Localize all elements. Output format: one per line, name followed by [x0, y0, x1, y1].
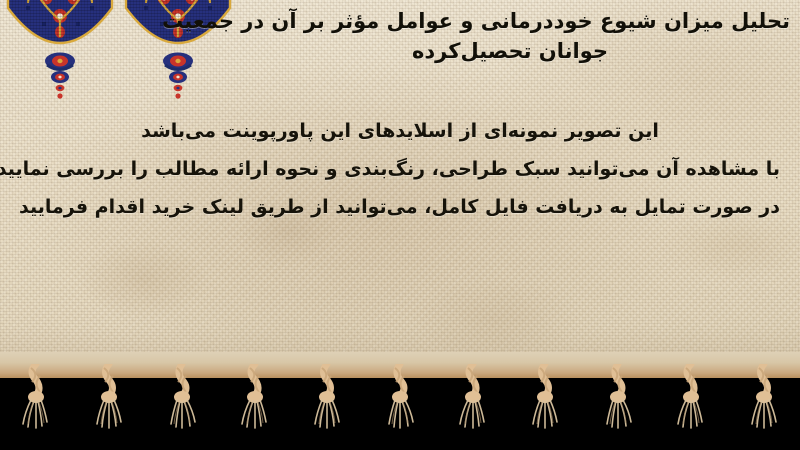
slide-title-line-1: تحلیل میزان شیوع خوددرمانی و عوامل مؤثر …	[230, 6, 790, 36]
slide-body: این تصویر نمونه‌ای از اسلایدهای این پاور…	[20, 112, 780, 226]
fringe-tassel	[518, 364, 572, 444]
fringe-tassel	[664, 364, 718, 444]
slide-body-line-1: این تصویر نمونه‌ای از اسلایدهای این پاور…	[20, 112, 780, 150]
fringe-tassel	[9, 364, 63, 444]
fringe-tassel	[446, 364, 500, 444]
pendant-drop-left-icon	[37, 52, 83, 100]
slide-title: تحلیل میزان شیوع خوددرمانی و عوامل مؤثر …	[230, 6, 790, 66]
fringe-tassel	[591, 364, 645, 444]
pendant-drop-right-icon	[155, 52, 201, 100]
fringe-tassel	[228, 364, 282, 444]
slide-canvas: تحلیل میزان شیوع خوددرمانی و عوامل مؤثر …	[0, 0, 800, 450]
fringe-tassel	[373, 364, 427, 444]
fringe-tassel	[82, 364, 136, 444]
slide-title-line-2: جوانان تحصیل‌کرده	[230, 36, 790, 66]
carpet-fringe	[0, 352, 800, 450]
fringe-tassel	[155, 364, 209, 444]
fringe-tassel	[737, 364, 791, 444]
fringe-tassel	[300, 364, 354, 444]
slide-body-line-3: در صورت تمایل به دریافت فایل کامل، می‌تو…	[20, 188, 780, 226]
slide-body-line-2: با مشاهده آن می‌توانید سبک طراحی، رنگ‌بن…	[20, 150, 780, 188]
